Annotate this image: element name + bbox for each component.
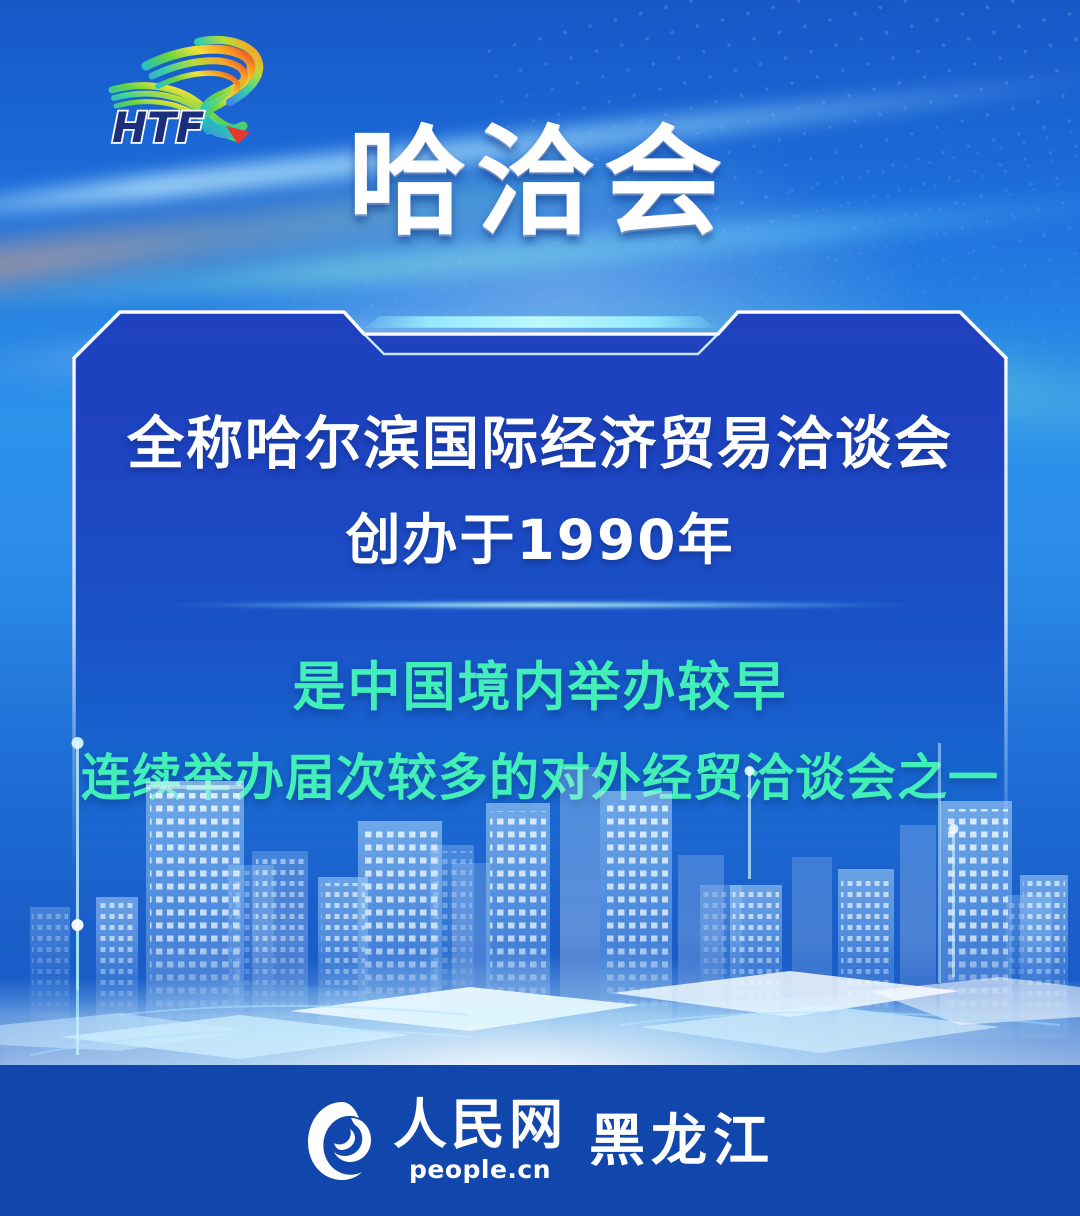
panel-line-full-name: 全称哈尔滨国际经济贸易洽谈会 (72, 398, 1008, 480)
ground-glow (0, 956, 1080, 1076)
people-cn-wordmark: 人民网 people.cn (393, 1097, 567, 1184)
panel-line-founded-year: 创办于1990年 (72, 495, 1008, 575)
people-cn-domain-text: people.cn (409, 1155, 551, 1184)
poster-root: HTF 哈洽会 全称哈尔滨国际经济贸易洽谈会 创办于1990年 是中国境内举办较… (0, 0, 1080, 1216)
province-label: 黑龙江 (589, 1096, 775, 1177)
people-cn-logo: 人民网 people.cn (305, 1097, 567, 1184)
panel-notch-accent (365, 316, 715, 328)
people-cn-cn-text: 人民网 (393, 1097, 567, 1151)
main-title: 哈洽会 (0, 122, 1080, 242)
glow-divider (150, 600, 930, 610)
panel-line-highlight-1: 是中国境内举办较早 (72, 645, 1008, 721)
footer-bar: 人民网 people.cn 黑龙江 (0, 1065, 1080, 1216)
people-globe-icon (305, 1098, 379, 1184)
